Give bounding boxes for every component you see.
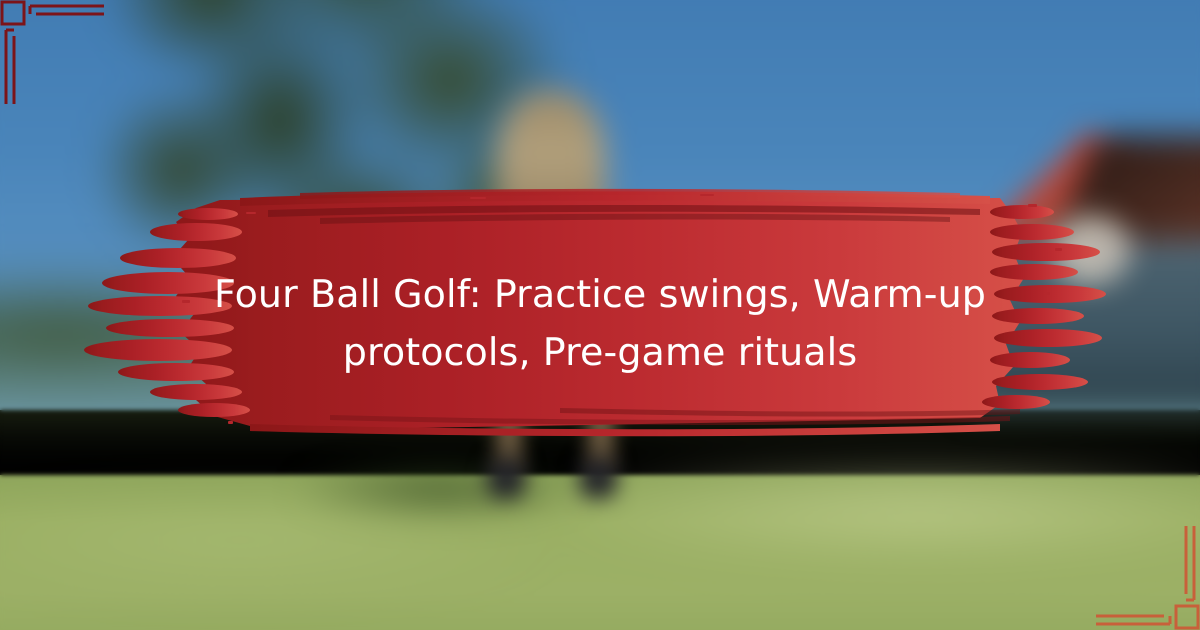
building-highlight: [1050, 215, 1130, 285]
golfer-leg-right: [588, 365, 614, 475]
social-card: Four Ball Golf: Practice swings, Warm-up…: [0, 0, 1200, 630]
title-line-1: Four Ball Golf: Practice swings, Warm-up: [214, 272, 986, 316]
golfer-shoe-right: [580, 460, 616, 498]
corner-ornament-bottom-right: [1096, 526, 1200, 630]
card-title: Four Ball Golf: Practice swings, Warm-up…: [150, 266, 1050, 382]
golfer-shoe-left: [488, 460, 524, 498]
title-line-2: protocols, Pre-game rituals: [343, 330, 857, 374]
card-title-text: Four Ball Golf: Practice swings, Warm-up…: [150, 266, 1050, 382]
golfer-leg-left: [496, 365, 522, 475]
golfer-icon: [496, 90, 606, 250]
golfer-shadow: [290, 460, 590, 520]
corner-ornament-top-left: [0, 0, 104, 104]
